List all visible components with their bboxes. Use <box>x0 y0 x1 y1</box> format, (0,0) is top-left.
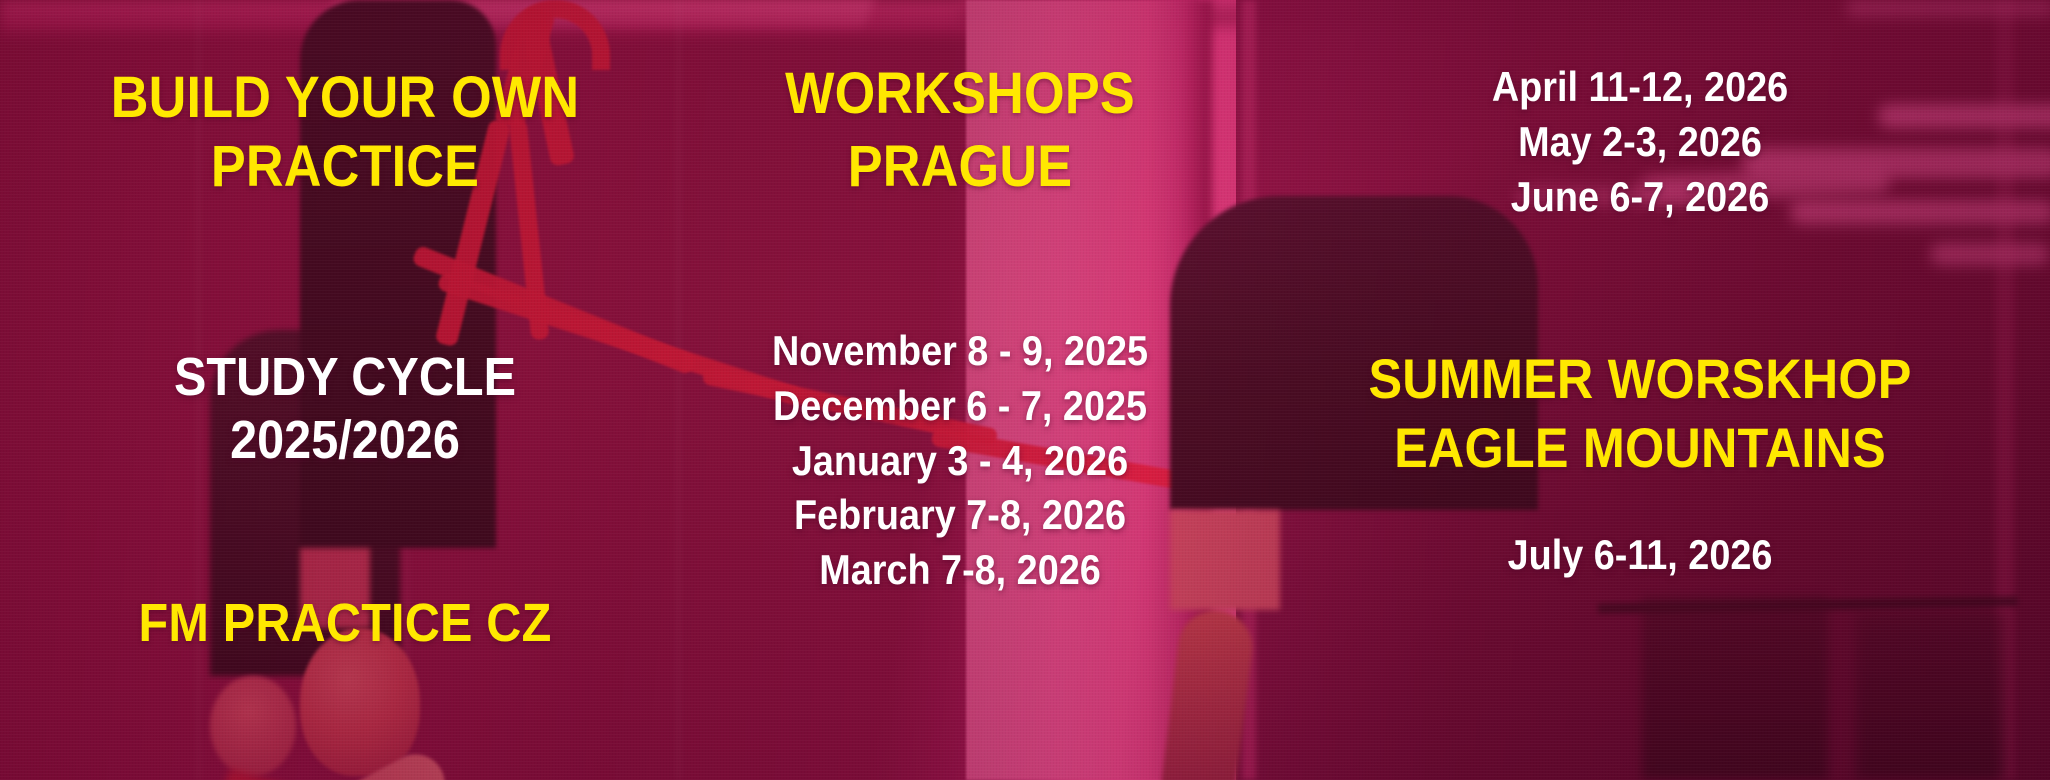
date-item: January 3 - 4, 2026 <box>717 440 1203 483</box>
prague-dates-list: November 8 - 9, 2025 December 6 - 7, 202… <box>717 330 1203 604</box>
banner-content: BUILD YOUR OWN PRACTICE STUDY CYCLE 2025… <box>0 0 2050 780</box>
main-headline-line1: BUILD YOUR OWN <box>111 65 579 130</box>
study-cycle-years: 2025/2026 <box>35 413 656 468</box>
spring-dates-list: April 11-12, 2026 May 2-3, 2026 June 6-7… <box>1271 66 2009 230</box>
date-item: April 11-12, 2026 <box>1271 66 2009 109</box>
brand-name: FM PRACTICE CZ <box>35 596 656 651</box>
workshops-headline: WORKSHOPS PRAGUE <box>717 64 1203 196</box>
promo-banner: BUILD YOUR OWN PRACTICE STUDY CYCLE 2025… <box>0 0 2050 780</box>
date-item: March 7-8, 2026 <box>717 549 1203 592</box>
left-column: BUILD YOUR OWN PRACTICE STUDY CYCLE 2025… <box>0 0 690 780</box>
middle-column: WORKSHOPS PRAGUE November 8 - 9, 2025 De… <box>690 0 1230 780</box>
main-headline-line2: PRACTICE <box>35 137 656 196</box>
date-item: June 6-7, 2026 <box>1271 176 2009 219</box>
date-item: December 6 - 7, 2025 <box>717 385 1203 428</box>
study-cycle-title: STUDY CYCLE <box>174 347 516 407</box>
date-item: May 2-3, 2026 <box>1271 121 2009 164</box>
summer-workshop-line2: EAGLE MOUNTAINS <box>1271 419 2009 476</box>
date-item: February 7-8, 2026 <box>717 494 1203 537</box>
study-cycle-block: STUDY CYCLE 2025/2026 <box>35 350 656 468</box>
workshops-headline-line2: PRAGUE <box>717 137 1203 196</box>
summer-workshop-date: July 6-11, 2026 <box>1271 534 2009 577</box>
right-column: April 11-12, 2026 May 2-3, 2026 June 6-7… <box>1230 0 2050 780</box>
summer-workshop-line1: SUMMER WORSKHOP <box>1368 347 1911 410</box>
workshops-headline-line1: WORKSHOPS <box>785 61 1135 126</box>
date-item: November 8 - 9, 2025 <box>717 330 1203 373</box>
summer-workshop-headline: SUMMER WORSKHOP EAGLE MOUNTAINS <box>1271 350 2009 476</box>
main-headline: BUILD YOUR OWN PRACTICE <box>35 68 656 196</box>
